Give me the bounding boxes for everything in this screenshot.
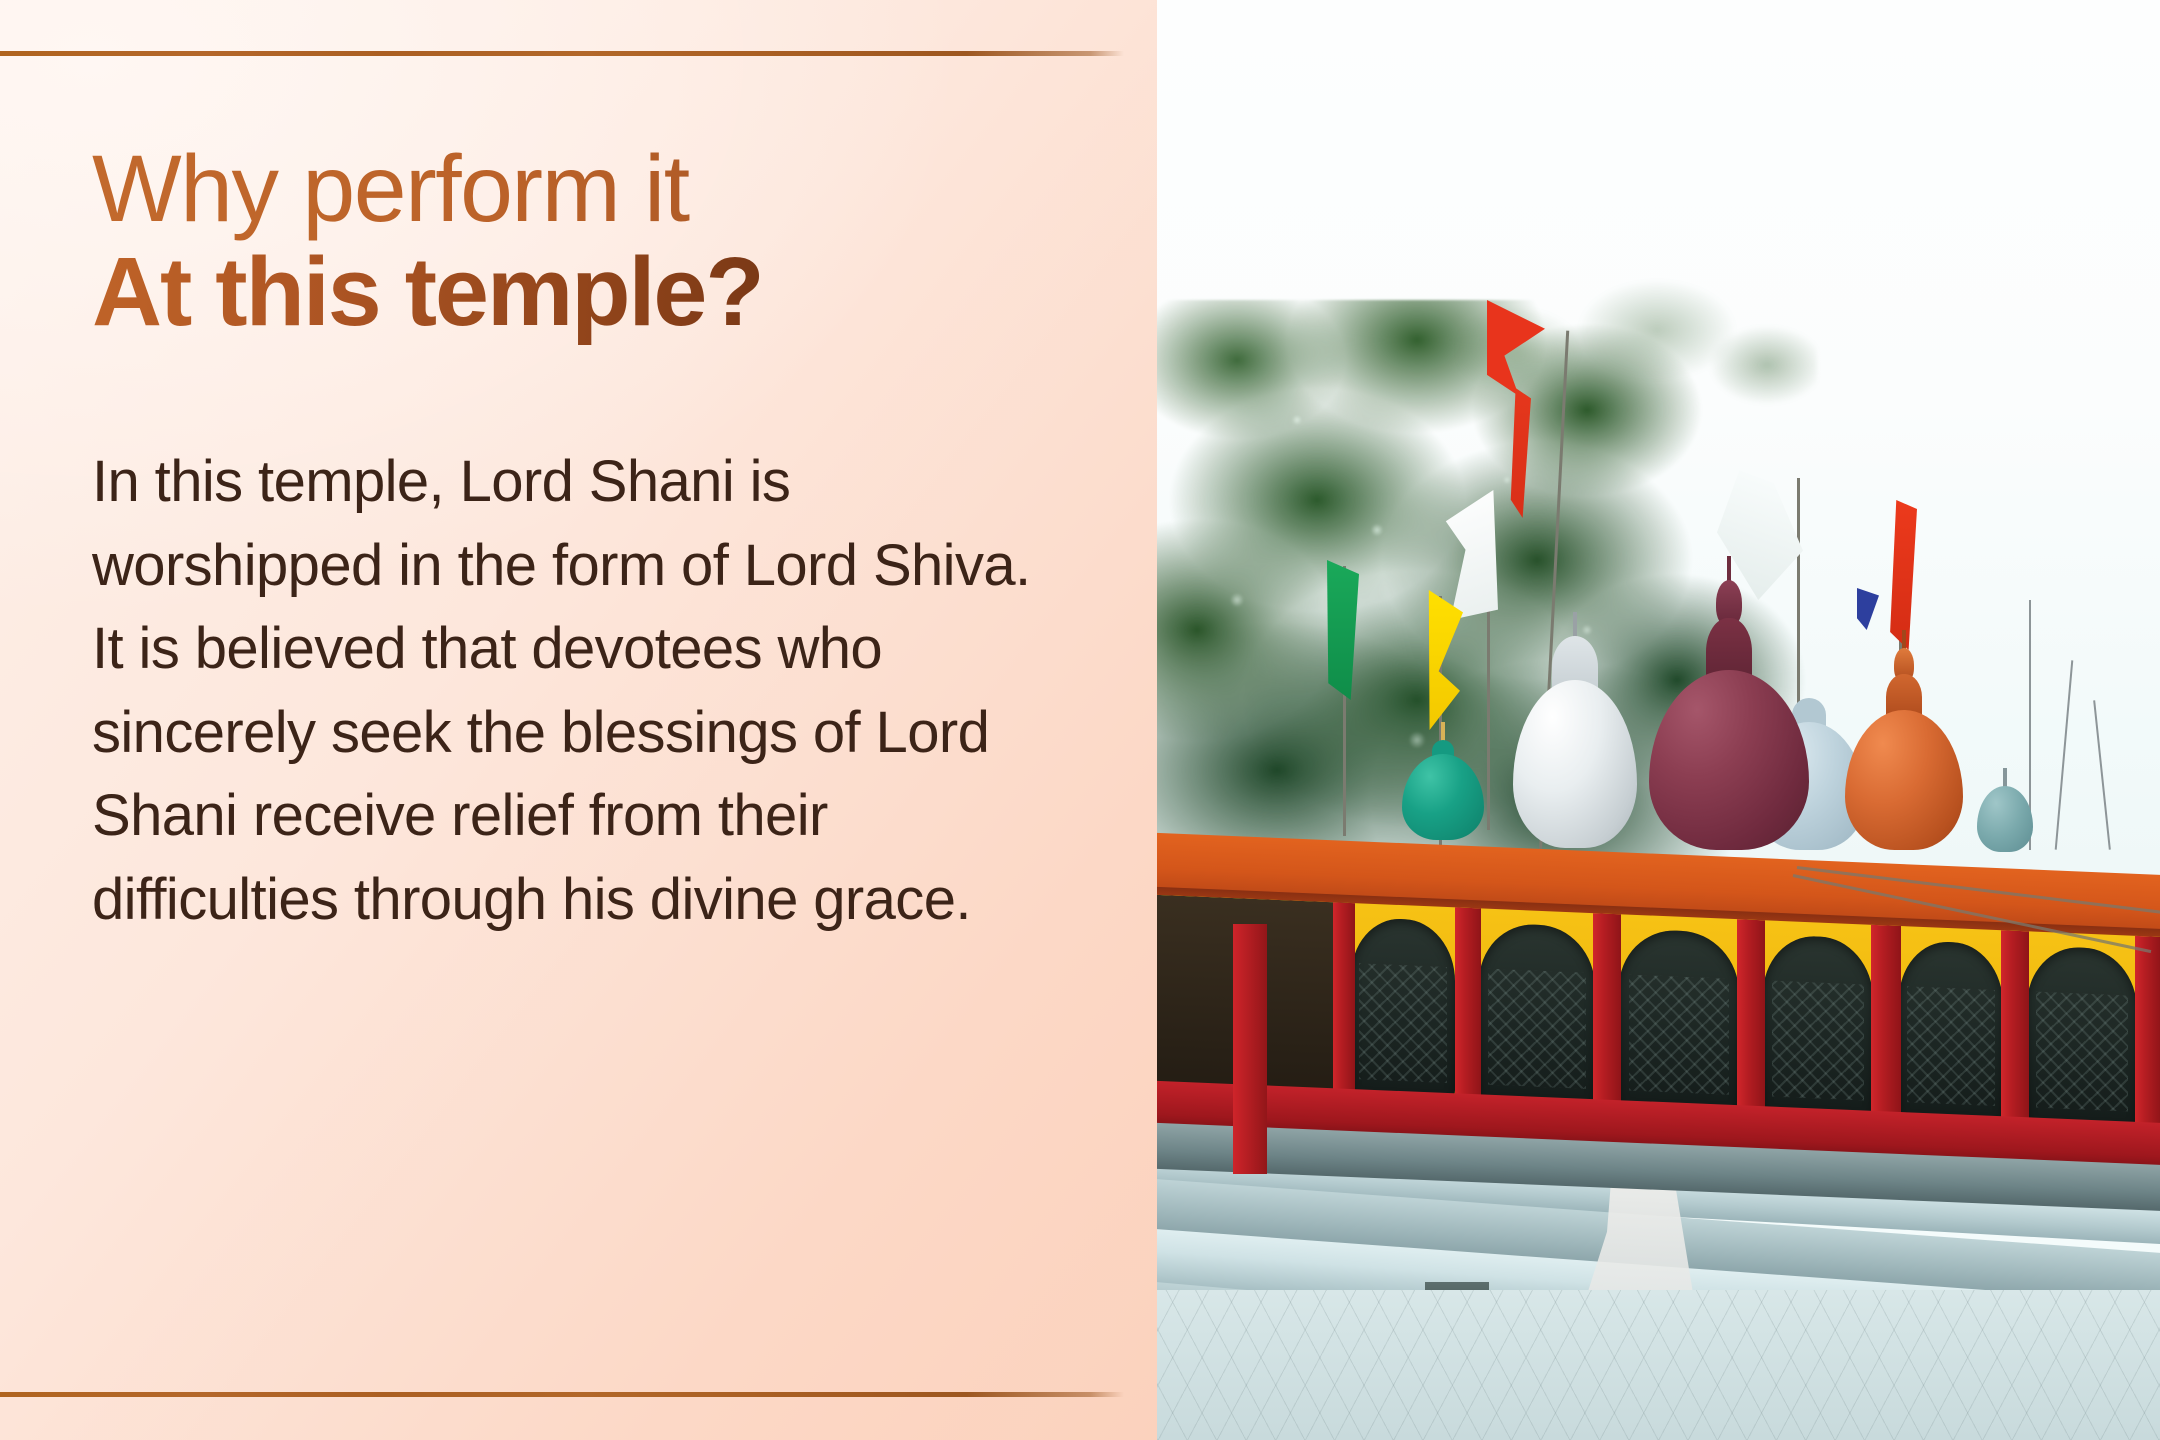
temple-photo-panel [1157,0,2160,1440]
bottom-divider-rule [0,1392,1124,1397]
temple-arch-3 [1619,928,1739,1109]
temple-pillar-3 [1593,913,1621,1114]
page-title: Why perform it At this temple? [92,142,1102,348]
maroon-dome [1649,560,1809,850]
temple-arch-6 [2027,945,2137,1126]
temple-pillar-7 [2135,936,2160,1137]
temple-arch-5 [1899,940,2003,1120]
slide-root: Why perform it At this temple? In this t… [0,0,2160,1440]
temple-pillar-1 [1333,902,1355,1103]
paved-courtyard [1157,1290,2160,1440]
white-dome [1513,620,1637,848]
temple-photograph [1157,0,2160,1440]
temple-pillar-5 [1871,925,1901,1126]
teal-dome [1402,740,1484,840]
temple-pillar-4 [1737,919,1765,1120]
temple-pillar-6 [2001,930,2029,1131]
headline-line-1: Why perform it [92,142,1102,243]
temple-corner-post [1233,924,1267,1174]
temple-arch-4 [1763,934,1873,1115]
body-paragraph: In this temple, Lord Shani is worshipped… [92,440,1052,941]
temple-arch-2 [1479,922,1595,1103]
text-content-block: Why perform it At this temple? In this t… [92,142,1102,941]
top-divider-rule [0,51,1124,56]
copper-dome [1845,640,1963,850]
headline-line-2: At this temple? [92,243,1102,348]
text-panel: Why perform it At this temple? In this t… [0,0,1157,1440]
temple-pillar-2 [1455,907,1481,1108]
temple-building [1157,832,2160,1162]
temple-arch-1 [1351,917,1455,1097]
